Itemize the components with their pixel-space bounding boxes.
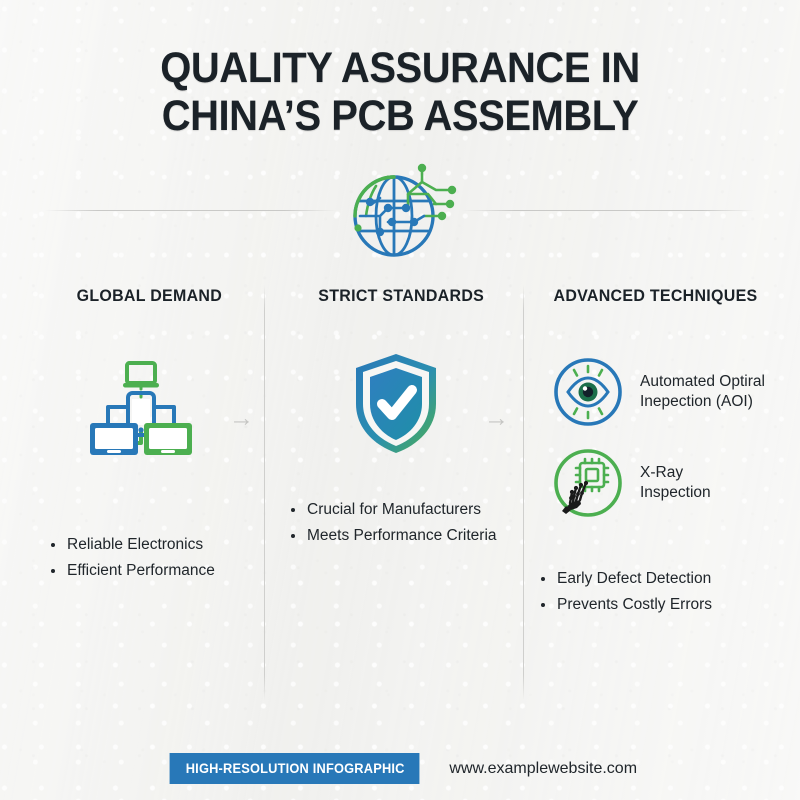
list-item: Crucial for Manufacturers	[288, 497, 497, 523]
column-header-global-demand: GLOBAL DEMAND	[77, 286, 222, 306]
divider-rule-left	[45, 210, 337, 211]
page-title-line-1: QUALITY ASSURANCE IN	[28, 44, 772, 92]
list-item: Efficient Performance	[48, 558, 215, 584]
page-title: QUALITY ASSURANCE IN CHINA’S PCB ASSEMBL…	[0, 44, 800, 140]
technique-label-xray: X-Ray Inspection	[640, 463, 711, 503]
bullet-list-global-demand: Reliable Electronics Efficient Performan…	[48, 532, 215, 584]
shield-check-icon	[352, 352, 440, 455]
list-item: Reliable Electronics	[48, 532, 215, 558]
status-badge: HIGH-RESOLUTION INFOGRAPHIC	[170, 753, 420, 784]
list-item: Early Defect Detection	[538, 566, 712, 592]
footer-website[interactable]: www.examplewebsite.com	[449, 760, 637, 778]
xray-hand-chip-icon	[552, 447, 624, 519]
column-divider-1	[264, 285, 265, 700]
technique-label-aoi: Automated Optiral Inepection (AOI)	[640, 372, 765, 412]
technique-item-xray: X-Ray Inspection	[552, 447, 711, 519]
column-divider-2	[523, 285, 524, 700]
globe-circuit-icon	[336, 160, 464, 260]
connected-devices-icon	[82, 357, 200, 462]
list-item: Prevents Costly Errors	[538, 592, 712, 618]
column-header-advanced-techniques: ADVANCED TECHNIQUES	[554, 286, 758, 306]
divider-rule-right	[462, 210, 755, 211]
eye-inspection-icon	[552, 356, 624, 428]
list-item: Meets Performance Criteria	[288, 523, 497, 549]
bullet-list-strict-standards: Crucial for Manufacturers Meets Performa…	[288, 497, 497, 549]
column-header-strict-standards: STRICT STANDARDS	[318, 286, 484, 306]
technique-item-aoi: Automated Optiral Inepection (AOI)	[552, 356, 765, 428]
flow-arrow-1: →	[229, 406, 254, 431]
flow-arrow-2: →	[484, 406, 509, 431]
page-title-line-2: CHINA’S PCB ASSEMBLY	[28, 92, 772, 140]
footer: HIGH-RESOLUTION INFOGRAPHIC www.examplew…	[0, 753, 800, 784]
bullet-list-advanced-techniques: Early Defect Detection Prevents Costly E…	[538, 566, 712, 618]
